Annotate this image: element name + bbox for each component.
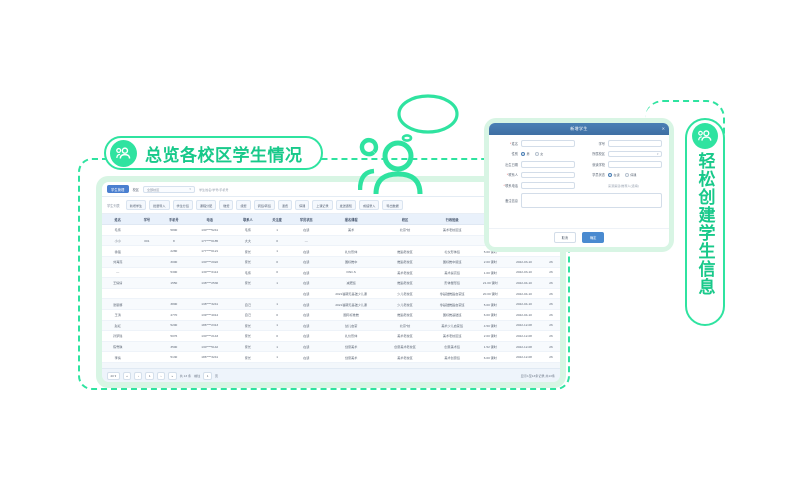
cell-sid — [133, 299, 160, 310]
cell-mobile: 139****4014 — [187, 309, 232, 320]
source-hint: 来源渠道/推荐人(选填) — [608, 183, 639, 188]
cell-contact: 家长 — [232, 256, 263, 267]
people-icon-glyph — [697, 128, 713, 144]
cell-status: 在读 — [291, 341, 322, 352]
cell-attention: 1 — [264, 225, 291, 236]
cell-name: 毛伟 — [102, 225, 133, 236]
column-header[interactable]: 联系人 — [232, 214, 263, 225]
cell-name — [102, 288, 133, 299]
field-name: *姓名 — [496, 140, 575, 147]
cell-status: 在读 — [291, 320, 322, 331]
cell-phone: 1550 — [160, 278, 187, 289]
campus-filter-value: 全部校区 — [147, 187, 159, 192]
cell-course: 创意美术 — [322, 341, 380, 352]
people-icon — [692, 123, 718, 149]
cell-course: PAD-S — [322, 267, 380, 278]
first-page-button[interactable]: « — [123, 372, 132, 380]
column-header[interactable]: 姓名 — [102, 214, 133, 225]
status-paused-label: 停课 — [630, 172, 636, 177]
cell-phone: 5076 — [160, 331, 187, 342]
toolbar-button[interactable]: 导出数据 — [382, 200, 402, 210]
gender-radio-group: 男 女 — [521, 151, 575, 156]
add-student-panel: 新增学生 ✕ *姓名 学号 性别 — [484, 118, 674, 252]
page-size-value: 20 — [111, 374, 114, 378]
cell-course: 创意美术 — [322, 352, 380, 363]
table-row[interactable]: 王倩倩1550138****2536家长1在读减肥班舞蹈老校区形体塑形班21.0… — [102, 278, 560, 289]
cell-attention — [264, 288, 291, 299]
cell-sid — [133, 341, 160, 352]
toolbar-button[interactable]: 缴费 — [219, 200, 233, 210]
field-sid: 学号 — [583, 140, 662, 147]
cell-operations[interactable]: 26 — [542, 267, 560, 278]
cell-course: 礼仪形体 — [322, 246, 380, 257]
cell-classname: 美术少儿启蒙班 — [430, 320, 475, 331]
cell-attention: 1 — [264, 278, 291, 289]
field-label-mobile: *联系电话 — [496, 183, 518, 188]
add-student-modal: 新增学生 ✕ *姓名 学号 性别 — [489, 123, 669, 247]
cell-course: 2021暑期无基础少儿课 — [322, 299, 380, 310]
campus-select[interactable]: ▾ — [608, 151, 662, 158]
cell-phone: 5130 — [160, 352, 187, 363]
cell-course: 礼仪形体 — [322, 331, 380, 342]
cell-course: 减肥班 — [322, 278, 380, 289]
cell-created: 2022-03-10 — [506, 267, 542, 278]
status-radio-paused[interactable]: 停课 — [625, 172, 637, 177]
cell-attention: 0 — [264, 267, 291, 278]
cell-mobile: 130****5142 — [187, 341, 232, 352]
cell-course: 美术 — [322, 225, 380, 236]
close-icon[interactable]: ✕ — [662, 127, 665, 131]
cell-name: 刘海燕 — [102, 256, 133, 267]
column-header[interactable]: 行政班级 — [430, 214, 475, 225]
table-row[interactable]: 孙梦瑶5076130****2143家长0在读礼仪形体美术老校区美术老校区班2.… — [102, 331, 560, 342]
cell-sid — [133, 256, 160, 267]
thought-bubble-and-people-icon — [358, 86, 470, 198]
cell-name: 徐强 — [102, 246, 133, 257]
cell-classname: 零基础舞蹈启蒙班 — [430, 288, 475, 299]
table-row[interactable]: 陈雪琪3500130****5142家长1在读创意美术创意美术老校区创意美术班1… — [102, 341, 560, 352]
field-campus: 所属校区 ▾ — [583, 151, 662, 158]
cell-contact: 大大 — [232, 235, 263, 246]
cell-attention: 1 — [264, 246, 291, 257]
gender-male-label: 男 — [527, 151, 530, 156]
cell-status: 在读 — [291, 299, 322, 310]
cell-phone: 2280 — [160, 246, 187, 257]
cell-classname: 美术创意班 — [430, 352, 475, 363]
cell-remain: 4.50 课时 — [475, 320, 506, 331]
cell-mobile: 177****0121 — [187, 246, 232, 257]
table-row[interactable]: 王涛4770139****4014自己0在读国际标准舞舞蹈老校区国标舞基础班6.… — [102, 309, 560, 320]
cell-created: 2022-04-10 — [506, 309, 542, 320]
cell-contact: 毛伟 — [232, 225, 263, 236]
cell-campus: 北京*校 — [380, 225, 429, 236]
cell-sid: 001 — [133, 235, 160, 246]
cell-campus: 美术老校区 — [380, 352, 429, 363]
cell-created: 2022-04-10 — [506, 288, 542, 299]
cell-status: 在读 — [291, 246, 322, 257]
modal-title-bar: 新增学生 ✕ — [489, 123, 669, 135]
name-input[interactable] — [521, 140, 575, 147]
cell-classname: 美术老校区班 — [430, 225, 475, 236]
mobile-input[interactable] — [521, 182, 575, 189]
cell-status: 在读 — [291, 256, 322, 267]
goto-page-input[interactable]: 1 — [203, 372, 212, 380]
cell-status: 在读 — [291, 331, 322, 342]
cell-mobile: 130****2114 — [187, 267, 232, 278]
cell-campus: 舞蹈老校区 — [380, 246, 429, 257]
cell-name: — — [102, 267, 133, 278]
cell-contact: 家长 — [232, 331, 263, 342]
badge-overview-label: 总览各校区学生情况 — [145, 141, 303, 166]
toolbar-button[interactable]: 课程分配 — [196, 200, 216, 210]
status-radio-active[interactable]: 在读 — [608, 172, 620, 177]
sid-input[interactable] — [608, 140, 662, 147]
cell-sid — [133, 309, 160, 320]
field-contact: *联系人 — [496, 172, 575, 179]
cell-created: 2022-04-10 — [506, 299, 542, 310]
cell-name: 王涛 — [102, 309, 133, 320]
cell-campus: 北京*校 — [380, 320, 429, 331]
cell-contact: 毛伟 — [232, 267, 263, 278]
cell-status: — — [291, 235, 322, 246]
cell-contact: 家长 — [232, 341, 263, 352]
cell-operations[interactable]: 26 — [542, 309, 560, 320]
status-active-label: 在读 — [614, 172, 620, 177]
last-page-button[interactable]: » — [168, 372, 177, 380]
cell-remain: 6.00 课时 — [475, 352, 506, 363]
decoration-group — [358, 86, 470, 198]
cell-mobile: 138****2536 — [187, 278, 232, 289]
cell-status: 在读 — [291, 352, 322, 363]
column-header[interactable]: 报名课程 — [322, 214, 380, 225]
cell-phone: 3800 — [160, 299, 187, 310]
field-label-birthday: 出生日期 — [496, 162, 518, 167]
field-label-name: *姓名 — [496, 141, 518, 146]
cell-operations[interactable]: 26 — [542, 331, 560, 342]
cell-classname — [430, 235, 475, 246]
cell-course: 2021暑期无基础少儿课 — [322, 288, 380, 299]
cell-classname: 国标舞中级班 — [430, 256, 475, 267]
cell-campus: 少儿老校区 — [380, 288, 429, 299]
page-size-select[interactable]: 20 ▾ — [107, 372, 120, 380]
cell-operations[interactable]: 26 — [542, 299, 560, 310]
field-status: 学员状态 在读 停课 — [583, 172, 662, 179]
cell-name: 小小 — [102, 235, 133, 246]
school-input[interactable] — [608, 161, 662, 168]
cell-campus: 舞蹈老校区 — [380, 256, 429, 267]
cell-operations[interactable]: 26 — [542, 288, 560, 299]
total-count-text: 共 13 条 — [180, 373, 191, 378]
modal-body: *姓名 学号 性别 男 — [489, 135, 669, 228]
next-page-button[interactable]: › — [157, 372, 165, 380]
cell-remain: 21.00 课时 — [475, 278, 506, 289]
cell-attention: 1 — [264, 320, 291, 331]
field-label-source — [583, 183, 605, 187]
table-row[interactable]: 李倩5130186****3241家长1在读创意美术美术老校区美术创意班6.00… — [102, 352, 560, 363]
field-school: 就读学校 — [583, 161, 662, 168]
field-label-school: 就读学校 — [583, 162, 605, 167]
cell-mobile: 130****2143 — [187, 331, 232, 342]
cell-created: 2022-12-08 — [506, 320, 542, 331]
toolbar-button[interactable]: 退费 — [278, 200, 292, 210]
cell-name: 赵虹 — [102, 320, 133, 331]
cell-attention: 0 — [264, 256, 291, 267]
gender-radio-male[interactable]: 男 — [521, 151, 530, 156]
cell-campus: 美术老校区 — [380, 267, 429, 278]
current-page-input[interactable]: 1 — [145, 372, 154, 380]
toolbar-button[interactable]: 续费 — [236, 200, 250, 210]
cell-phone: 4770 — [160, 309, 187, 320]
radio-dot-icon — [521, 152, 525, 156]
cell-remain: 1.00 课时 — [475, 267, 506, 278]
column-header[interactable]: 学号 — [133, 214, 160, 225]
toolbar-button[interactable]: 调班/转班 — [254, 200, 275, 210]
birthday-input[interactable] — [521, 161, 575, 168]
cell-attention: 0 — [264, 235, 291, 246]
cell-name: 李倩 — [102, 352, 133, 363]
cancel-button[interactable]: 取消 — [554, 232, 576, 243]
modal-footer: 取消 确定 — [489, 228, 669, 247]
cell-contact: 自己 — [232, 299, 263, 310]
cell-course: 幼儿启蒙 — [322, 320, 380, 331]
cell-operations[interactable]: 26 — [542, 341, 560, 352]
prev-page-button[interactable]: ‹ — [134, 372, 142, 380]
radio-dot-icon — [535, 152, 539, 156]
cell-mobile: 186****2313 — [187, 320, 232, 331]
cell-operations[interactable]: 26 — [542, 278, 560, 289]
chevron-down-icon: ▾ — [657, 152, 659, 156]
cell-campus: 舞蹈老校区 — [380, 278, 429, 289]
cell-operations[interactable]: 26 — [542, 320, 560, 331]
radio-dot-icon — [625, 173, 629, 177]
table-row[interactable]: 赵虹5200186****2313家长1在读幼儿启蒙北京*校美术少儿启蒙班4.5… — [102, 320, 560, 331]
cell-created: 2022-03-10 — [506, 256, 542, 267]
toolbar-button[interactable]: 停课 — [295, 200, 309, 210]
cell-contact: 家长 — [232, 278, 263, 289]
campus-filter-label: 校区 — [133, 187, 139, 192]
cell-name: 王倩倩 — [102, 278, 133, 289]
cell-attention: 1 — [264, 299, 291, 310]
toolbar-button[interactable]: 上课记录 — [312, 200, 332, 210]
cell-phone — [160, 288, 187, 299]
cell-created: 2022-12-08 — [506, 352, 542, 363]
cell-name: 孙梦瑶 — [102, 331, 133, 342]
cell-classname: 零基础舞蹈启蒙班 — [430, 299, 475, 310]
column-header[interactable]: 手机号 — [160, 214, 187, 225]
cell-attention: 0 — [264, 309, 291, 320]
cell-campus: 美术老校区 — [380, 331, 429, 342]
cell-name: 陈雪琪 — [102, 341, 133, 352]
cell-attention: 1 — [264, 341, 291, 352]
cell-remain: 1.52 课时 — [475, 341, 506, 352]
badge-overview: 总览各校区学生情况 — [104, 136, 323, 170]
cell-campus: 创意美术老校区 — [380, 341, 429, 352]
column-header[interactable]: 学员状态 — [291, 214, 322, 225]
cell-remain: 6.00 课时 — [475, 309, 506, 320]
field-label-sid: 学号 — [583, 141, 605, 146]
screenshot-root: 学生管理 校区 全部校区 ▾ 学生姓名/学号/手机号 学生列表 新增学生 批量导… — [0, 0, 800, 500]
cell-classname: 国标舞基础班 — [430, 309, 475, 320]
record-range-text: 显示1至13条记录,共13条 — [521, 373, 555, 378]
toolbar-button[interactable]: 新增学生 — [126, 200, 146, 210]
cell-classname: 美术提高班 — [430, 267, 475, 278]
cell-mobile: 177****0185 — [187, 235, 232, 246]
chevron-down-icon: ▾ — [189, 187, 191, 191]
cell-sid — [133, 320, 160, 331]
cell-mobile — [187, 288, 232, 299]
toolbar-button[interactable]: 成绩录入 — [359, 200, 379, 210]
toolbar-button[interactable]: 学生分班 — [173, 200, 193, 210]
people-icon — [110, 140, 137, 167]
cell-remain: 20.00 课时 — [475, 288, 506, 299]
cell-phone: 8 — [160, 235, 187, 246]
cell-created: 2022-04-10 — [506, 278, 542, 289]
people-icon-glyph — [115, 145, 132, 162]
radio-dot-icon — [608, 173, 612, 177]
search-hint: 学生姓名/学号/手机号 — [199, 187, 229, 192]
cell-phone: 5200 — [160, 320, 187, 331]
status-radio-group: 在读 停课 — [608, 172, 662, 177]
contact-input[interactable] — [521, 172, 575, 179]
remark-textarea[interactable] — [521, 193, 662, 208]
cell-sid — [133, 331, 160, 342]
column-header[interactable]: 电话 — [187, 214, 232, 225]
cell-contact: 家长 — [232, 246, 263, 257]
table-row[interactable]: 在读2021暑期无基础少儿课少儿老校区零基础舞蹈启蒙班20.00 课时2022-… — [102, 288, 560, 299]
field-label-contact: *联系人 — [496, 172, 518, 177]
campus-filter-select[interactable]: 全部校区 ▾ — [143, 186, 195, 193]
toolbar-button[interactable]: 批量导入 — [149, 200, 169, 210]
gender-radio-female[interactable]: 女 — [535, 151, 544, 156]
cell-attention: 1 — [264, 352, 291, 363]
cell-campus: 少儿老校区 — [380, 299, 429, 310]
list-title: 学生列表 — [107, 203, 120, 208]
cell-remain: 5.00 课时 — [475, 299, 506, 310]
cell-mobile: 186****3241 — [187, 352, 232, 363]
cell-classname: 形体塑形班 — [430, 278, 475, 289]
cell-sid — [133, 288, 160, 299]
cell-phone: 3000 — [160, 256, 187, 267]
toolbar-button[interactable]: 发送通知 — [336, 200, 356, 210]
cell-sid — [133, 352, 160, 363]
gender-female-label: 女 — [540, 151, 543, 156]
cell-status: 在读 — [291, 288, 322, 299]
table-row[interactable]: 刘海燕3000130****2022家长0在读国标舞中舞蹈老校区国标舞中级班2.… — [102, 256, 560, 267]
field-source: 来源渠道/推荐人(选填) — [583, 182, 662, 189]
cell-sid — [133, 278, 160, 289]
cell-campus: 舞蹈老校区 — [380, 309, 429, 320]
cell-classname: 礼仪形体班 — [430, 246, 475, 257]
cell-remain: 2.00 课时 — [475, 256, 506, 267]
cell-course: 国标舞中 — [322, 256, 380, 267]
cell-sid — [133, 225, 160, 236]
table-row[interactable]: —5300130****2114毛伟0在读PAD-S美术老校区美术提高班1.00… — [102, 267, 560, 278]
cell-created: 2022-12-08 — [506, 331, 542, 342]
field-label-gender: 性别 — [496, 151, 518, 156]
module-tag[interactable]: 学生管理 — [107, 185, 129, 193]
field-label-campus: 所属校区 — [583, 151, 605, 156]
field-remark: 备注信息 — [496, 193, 662, 208]
cell-operations[interactable]: 26 — [542, 352, 560, 363]
cell-course — [322, 235, 380, 246]
cell-operations[interactable]: 26 — [542, 256, 560, 267]
cell-classname: 创意美术班 — [430, 341, 475, 352]
cell-contact: 家长 — [232, 320, 263, 331]
form-grid: *姓名 学号 性别 男 — [496, 140, 662, 208]
cell-remain: 2.00 课时 — [475, 331, 506, 342]
cell-status: 在读 — [291, 225, 322, 236]
cell-phone: 5300 — [160, 267, 187, 278]
field-gender: 性别 男 女 — [496, 151, 575, 158]
cell-course: 国际标准舞 — [322, 309, 380, 320]
cell-contact: 自己 — [232, 309, 263, 320]
field-label-remark: 备注信息 — [496, 198, 518, 203]
badge-create: 轻松创建学生信息 — [685, 118, 725, 326]
cell-name: 张丽娜 — [102, 299, 133, 310]
column-header[interactable]: 关注度 — [264, 214, 291, 225]
cell-campus — [380, 235, 429, 246]
cell-mobile: 130****2022 — [187, 256, 232, 267]
goto-label: 前往 — [194, 373, 200, 378]
cell-sid — [133, 267, 160, 278]
field-birthday: 出生日期 — [496, 161, 575, 168]
table-row[interactable]: 张丽娜3800138****3241自己1在读2021暑期无基础少儿课少儿老校区… — [102, 299, 560, 310]
cell-status: 在读 — [291, 267, 322, 278]
pagination-bar: 20 ▾ « ‹ 1 › » 共 13 条 前往 1 页 显示1至13条记录,共… — [102, 368, 560, 382]
cell-mobile: 130****5241 — [187, 225, 232, 236]
cell-contact — [232, 288, 263, 299]
cell-status: 在读 — [291, 309, 322, 320]
cell-classname: 美术老校区班 — [430, 331, 475, 342]
cell-phone: 5800 — [160, 225, 187, 236]
cell-status: 在读 — [291, 278, 322, 289]
field-mobile: *联系电话 — [496, 182, 575, 189]
cell-mobile: 138****3241 — [187, 299, 232, 310]
cell-attention: 0 — [264, 331, 291, 342]
cell-sid — [133, 246, 160, 257]
cell-phone: 3500 — [160, 341, 187, 352]
modal-title-text: 新增学生 — [570, 126, 588, 132]
cell-created: 2022-12-08 — [506, 341, 542, 352]
cell-contact: 家长 — [232, 352, 263, 363]
goto-unit: 页 — [215, 373, 218, 378]
column-header[interactable]: 校区 — [380, 214, 429, 225]
badge-create-label: 轻松创建学生信息 — [697, 152, 714, 296]
confirm-button[interactable]: 确定 — [582, 232, 604, 243]
field-label-status: 学员状态 — [583, 172, 605, 177]
